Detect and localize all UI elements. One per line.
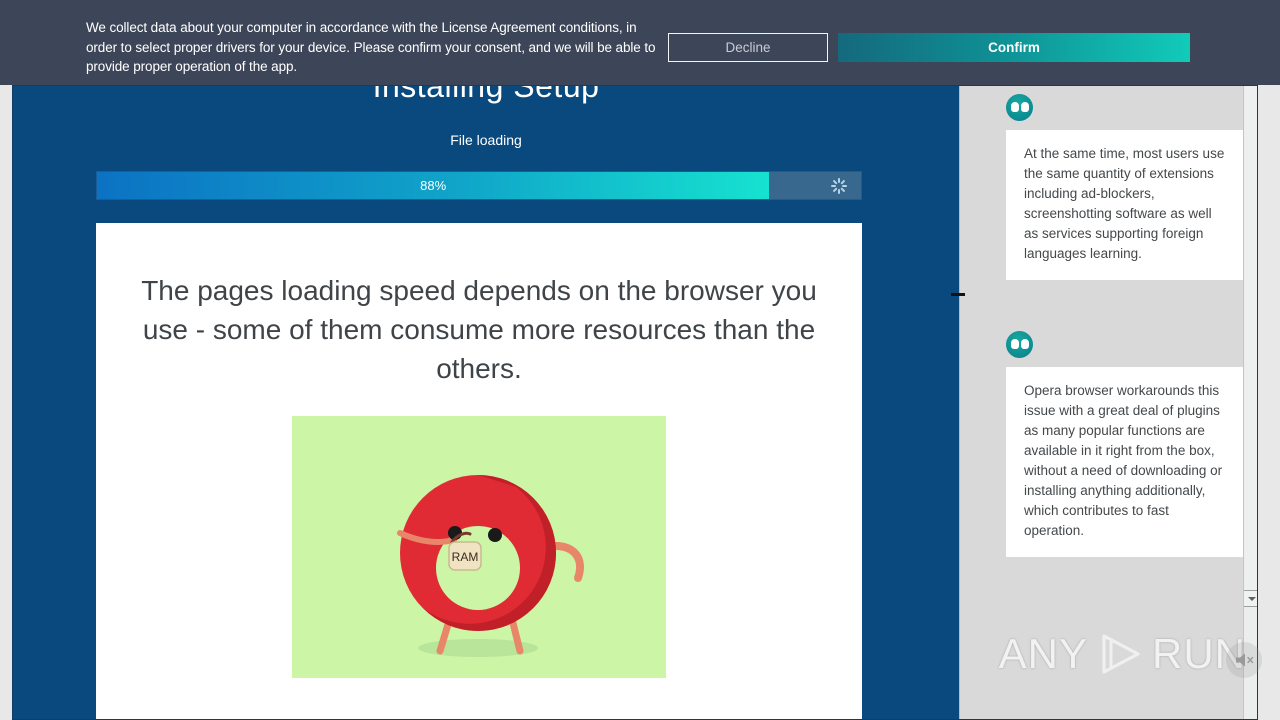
sound-toggle-button[interactable] [1226, 642, 1262, 678]
chevron-down-icon [1248, 597, 1256, 601]
progress-bar: 88% [96, 171, 862, 200]
tip-bubble-text: At the same time, most users use the sam… [1006, 130, 1246, 280]
progress-percent-label: 88% [97, 172, 769, 199]
consent-message: We collect data about your computer in a… [86, 18, 666, 77]
installer-main-pane: Installing Setup File loading 88% [13, 86, 959, 719]
list-item: Opera browser workarounds this issue wit… [960, 331, 1258, 557]
ram-donut-character-illustration: RAM [292, 416, 666, 678]
sidebar-scrollbar[interactable] [1243, 86, 1258, 719]
screen-root: Installing Setup File loading 88% [0, 0, 1280, 720]
info-card: The pages loading speed depends on the b… [96, 223, 862, 720]
info-card-headline: The pages loading speed depends on the b… [134, 271, 824, 388]
tips-sidebar[interactable]: At the same time, most users use the sam… [959, 86, 1258, 719]
consent-banner: We collect data about your computer in a… [0, 0, 1280, 85]
text-cursor-artifact [951, 293, 965, 296]
tip-bubble-text: Opera browser workarounds this issue wit… [1006, 367, 1246, 557]
svg-text:RAM: RAM [452, 550, 479, 564]
installer-stage-label: File loading [13, 132, 959, 148]
scrollbar-down-button[interactable] [1244, 590, 1258, 607]
assistant-avatar-icon [1006, 94, 1033, 121]
installer-title: Installing Setup [13, 85, 959, 105]
assistant-avatar-icon [1006, 331, 1033, 358]
loading-spinner-icon [831, 178, 847, 194]
installer-window: Installing Setup File loading 88% [12, 85, 1258, 720]
scrollbar-thumb[interactable] [1245, 86, 1258, 599]
decline-button[interactable]: Decline [668, 33, 828, 62]
list-item: At the same time, most users use the sam… [960, 94, 1258, 280]
speaker-muted-icon [1234, 651, 1254, 669]
confirm-button[interactable]: Confirm [838, 33, 1190, 62]
